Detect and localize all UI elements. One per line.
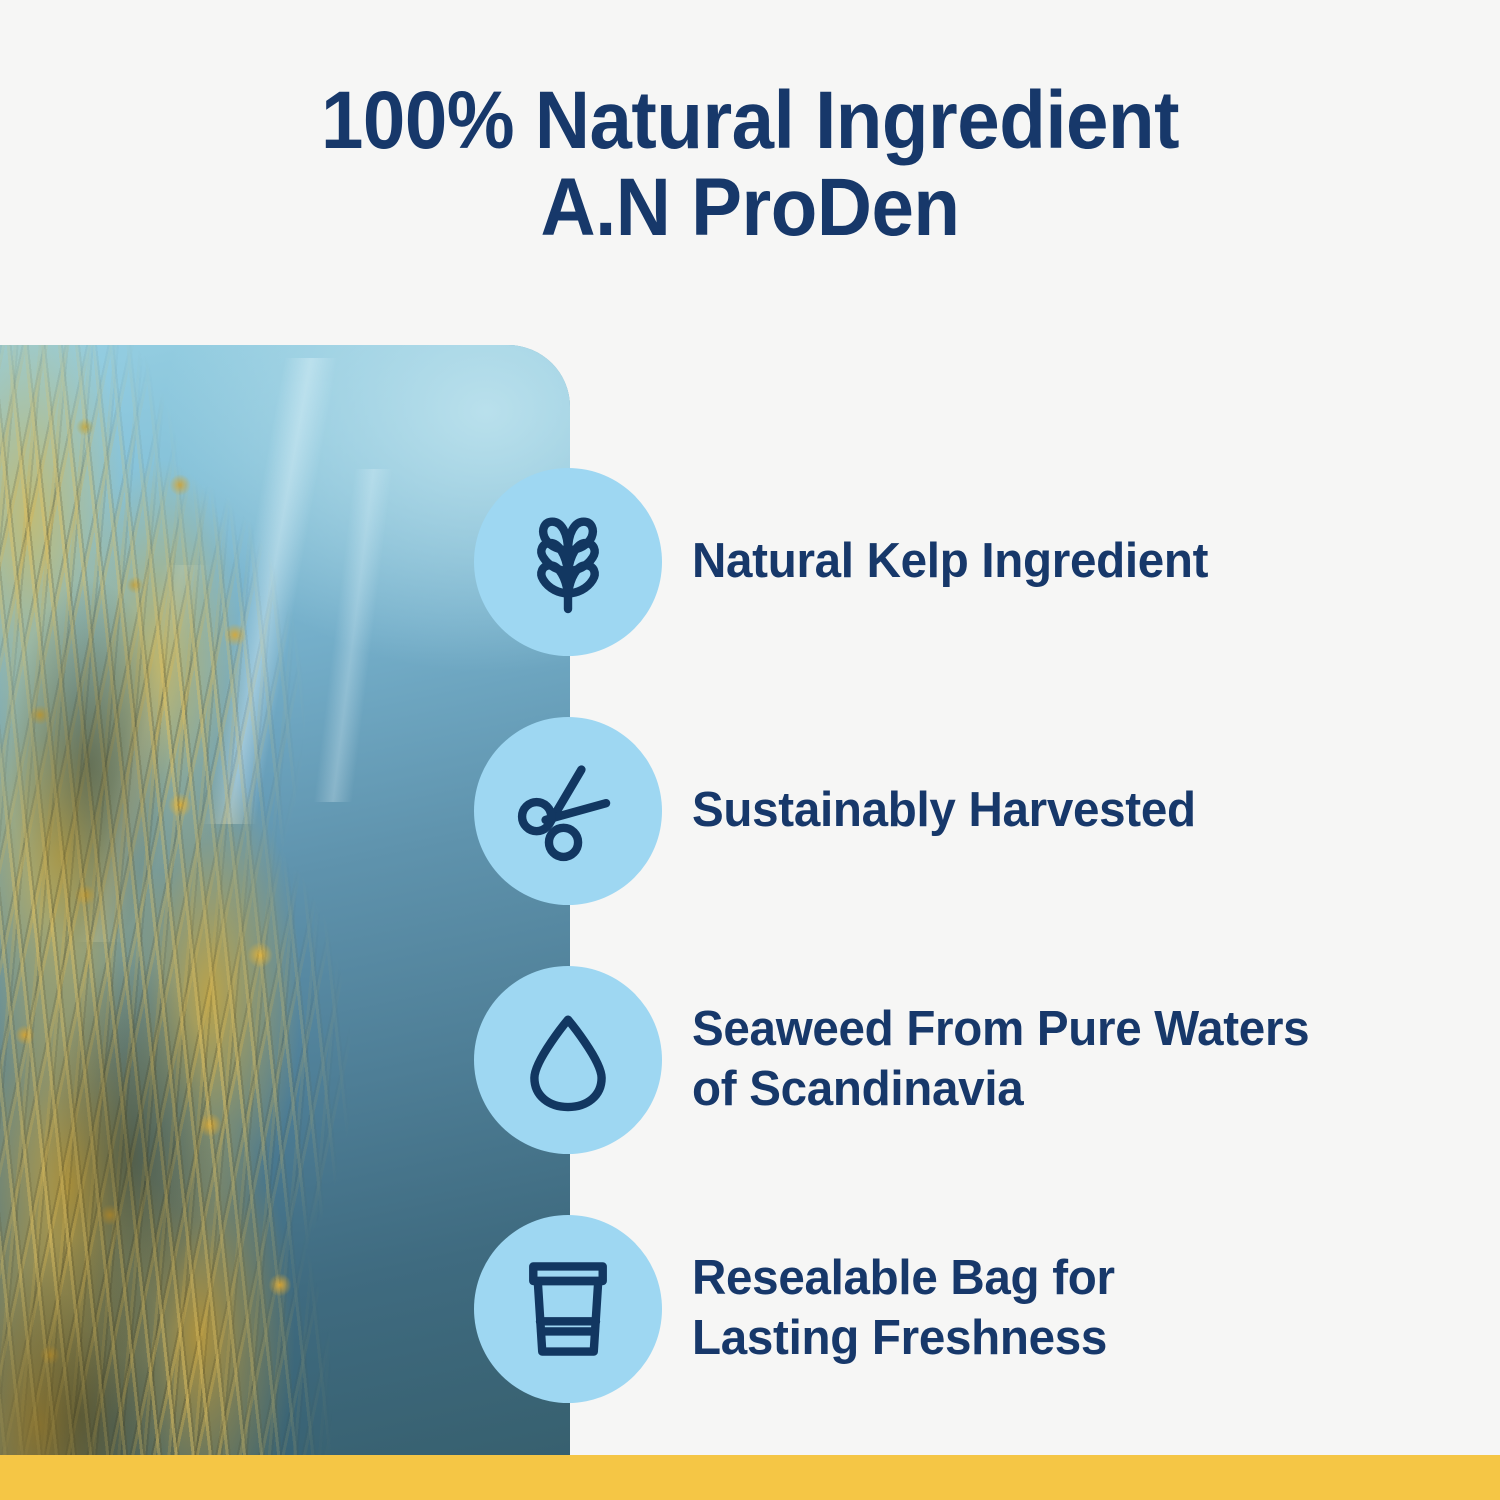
title-line-2: A.N ProDen: [53, 165, 1448, 252]
feature-row-natural-kelp: Natural Kelp Ingredient: [474, 466, 1474, 658]
title-line-1: 100% Natural Ingredient: [53, 78, 1448, 165]
feature-label-line: Sustainably Harvested: [692, 781, 1196, 841]
feature-label-line: Seaweed From Pure Waters: [692, 1000, 1309, 1060]
feature-row-pure-waters: Seaweed From Pure Waters of Scandinavia: [474, 964, 1474, 1156]
kelp-illustration: [0, 345, 440, 1455]
feature-label-line: Resealable Bag for: [692, 1249, 1115, 1309]
water-droplet-icon: [474, 966, 662, 1154]
feature-row-resealable-bag: Resealable Bag for Lasting Freshness: [474, 1213, 1474, 1405]
feature-row-sustainably-harvested: Sustainably Harvested: [474, 715, 1474, 907]
bottom-accent-bar: [0, 1455, 1500, 1500]
feature-list: Natural Kelp Ingredient Sustainably Harv…: [474, 466, 1474, 1405]
feature-label: Sustainably Harvested: [692, 781, 1196, 841]
scissors-icon: [474, 717, 662, 905]
feature-label: Seaweed From Pure Waters of Scandinavia: [692, 1000, 1309, 1120]
feature-label-line: Lasting Freshness: [692, 1309, 1115, 1369]
feature-label: Resealable Bag for Lasting Freshness: [692, 1249, 1115, 1369]
kelp-shadow: [0, 345, 440, 1455]
infographic-page: 100% Natural Ingredient A.N ProDen Natur…: [0, 0, 1500, 1500]
feature-label-line: Natural Kelp Ingredient: [692, 532, 1208, 592]
feature-label-line: of Scandinavia: [692, 1060, 1309, 1120]
resealable-bag-icon: [474, 1215, 662, 1403]
kelp-leaf-icon: [474, 468, 662, 656]
feature-label: Natural Kelp Ingredient: [692, 532, 1208, 592]
page-title: 100% Natural Ingredient A.N ProDen: [0, 78, 1500, 252]
